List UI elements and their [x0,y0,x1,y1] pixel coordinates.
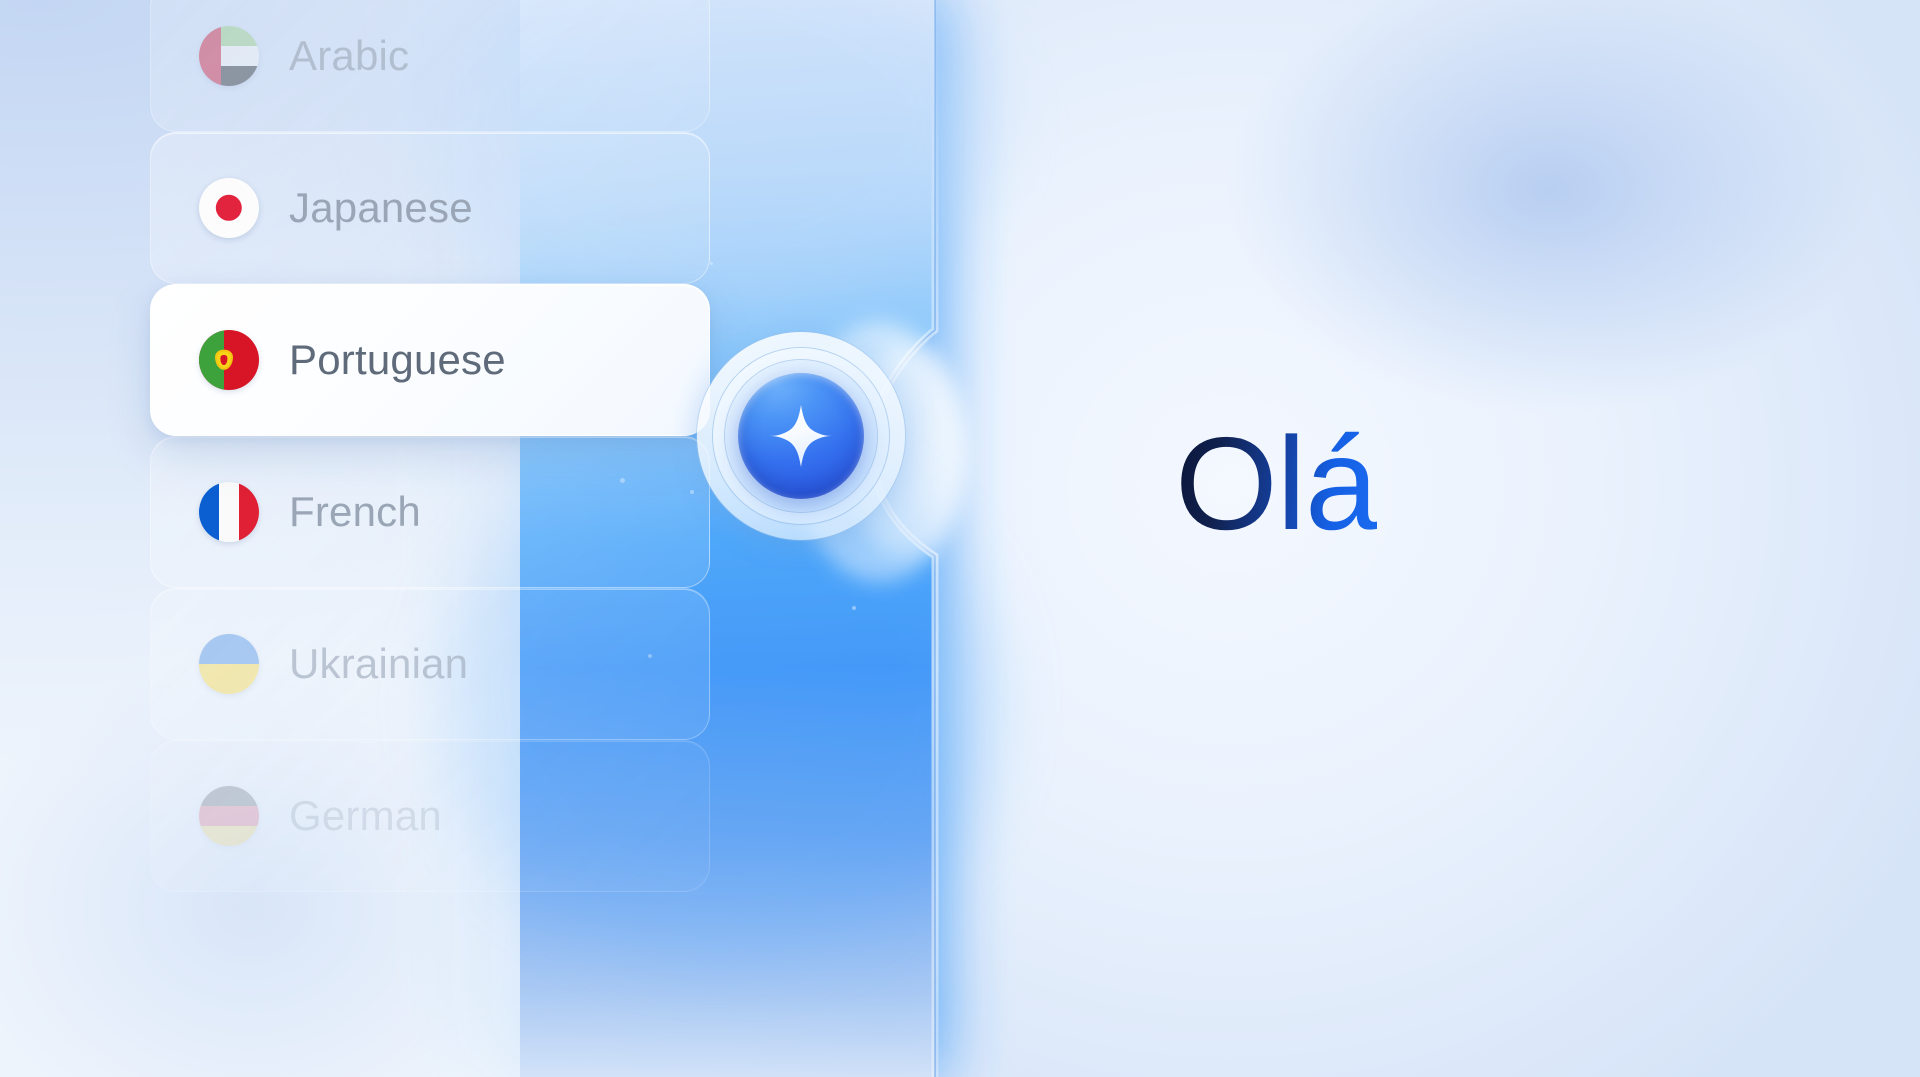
translated-greeting: Olá [1175,418,1377,550]
language-label: French [289,488,421,536]
sparkle-icon [768,403,834,469]
language-label: Ukrainian [289,640,468,688]
language-row-arabic[interactable]: Arabic [150,0,710,132]
language-row-french[interactable]: French [150,436,710,588]
language-row-ukrainian[interactable]: Ukrainian [150,588,710,740]
language-row-japanese[interactable]: Japanese [150,132,710,284]
flag-ua-icon [199,634,259,694]
ai-sparkle-orb[interactable] [693,328,908,543]
particle-2 [710,262,713,265]
language-label: Japanese [289,184,473,232]
flag-fr-icon [199,482,259,542]
language-row-german[interactable]: German [150,740,710,892]
language-list: Arabic Japanese Portuguese French [150,0,710,892]
flag-pt-icon [199,330,259,390]
flag-jp-icon [199,178,259,238]
language-label: German [289,792,442,840]
app-stage: Arabic Japanese Portuguese French [0,0,1920,1077]
language-row-portuguese[interactable]: Portuguese [150,284,710,436]
language-label: Portuguese [289,336,506,384]
flag-ae-icon [199,26,259,86]
flag-de-icon [199,786,259,846]
orb-core [738,373,864,499]
language-label: Arabic [289,32,409,80]
particle-8 [852,606,856,610]
